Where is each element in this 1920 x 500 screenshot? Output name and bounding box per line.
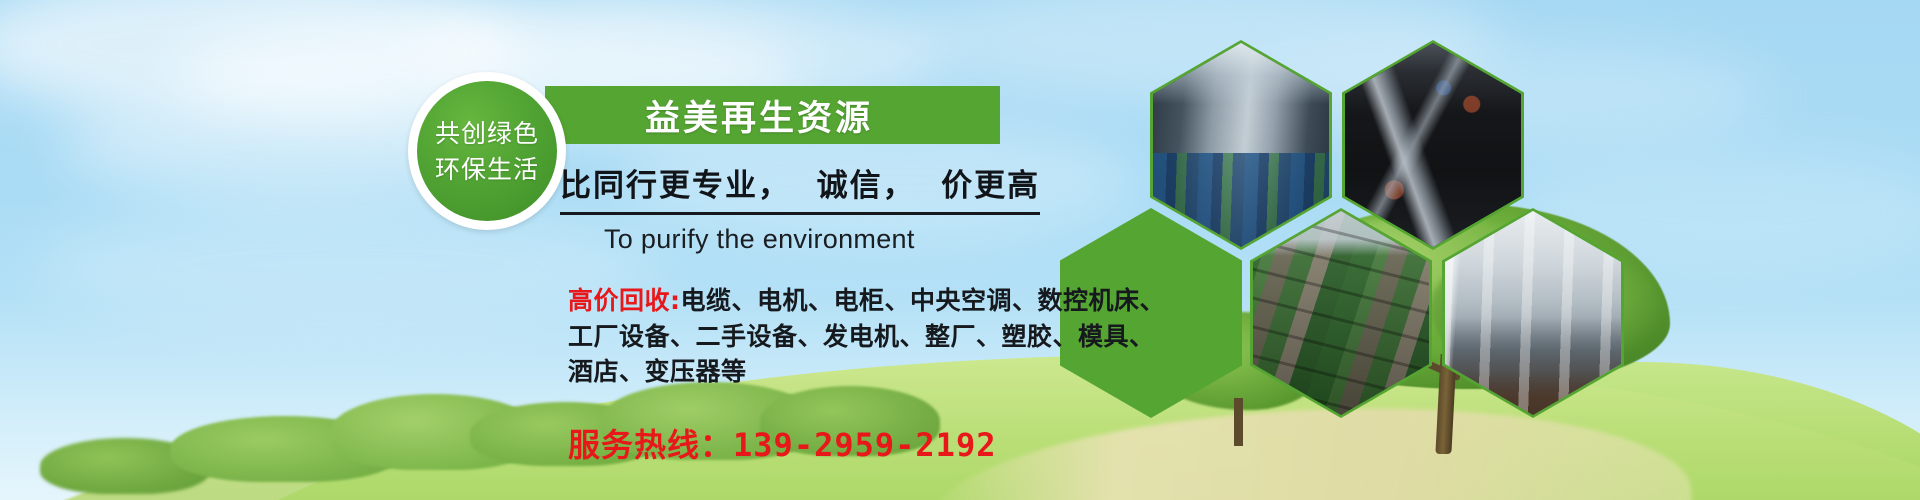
eco-slogan-badge: 共创绿色 环保生活 — [408, 72, 566, 230]
badge-line-2: 环保生活 — [435, 157, 539, 182]
recycle-line-2: 工厂设备、二手设备、发电机、整厂、塑胶、模具、 — [568, 319, 1496, 355]
recycle-line-1: 高价回收:电缆、电机、电柜、中央空调、数控机床、 — [568, 283, 1496, 319]
company-name-bar: 益美再生资源 — [545, 86, 1000, 144]
recycle-line-1-items: 电缆、电机、电柜、中央空调、数控机床、 — [681, 286, 1166, 315]
banner-stage: 益美再生资源 共创绿色 环保生活 比同行更专业， 诚信， 价更高 To puri… — [0, 0, 1920, 500]
tagline: 比同行更专业， 诚信， 价更高 — [560, 160, 1040, 215]
company-name: 益美再生资源 — [645, 90, 873, 141]
recycle-label: 高价回收: — [568, 286, 681, 315]
hotline-label: 服务热线： — [568, 426, 733, 464]
subtitle-english: To purify the environment — [604, 224, 1496, 255]
recycle-line-3: 酒店、变压器等 — [568, 354, 1496, 390]
recycle-items-list: 高价回收:电缆、电机、电柜、中央空调、数控机床、 工厂设备、二手设备、发电机、整… — [568, 283, 1496, 390]
badge-line-1: 共创绿色 — [435, 121, 539, 146]
hotline[interactable]: 服务热线：139-2959-2192 — [568, 420, 1496, 466]
hotline-number[interactable]: 139-2959-2192 — [733, 426, 996, 464]
copy-block: 比同行更专业， 诚信， 价更高 To purify the environmen… — [556, 160, 1496, 466]
